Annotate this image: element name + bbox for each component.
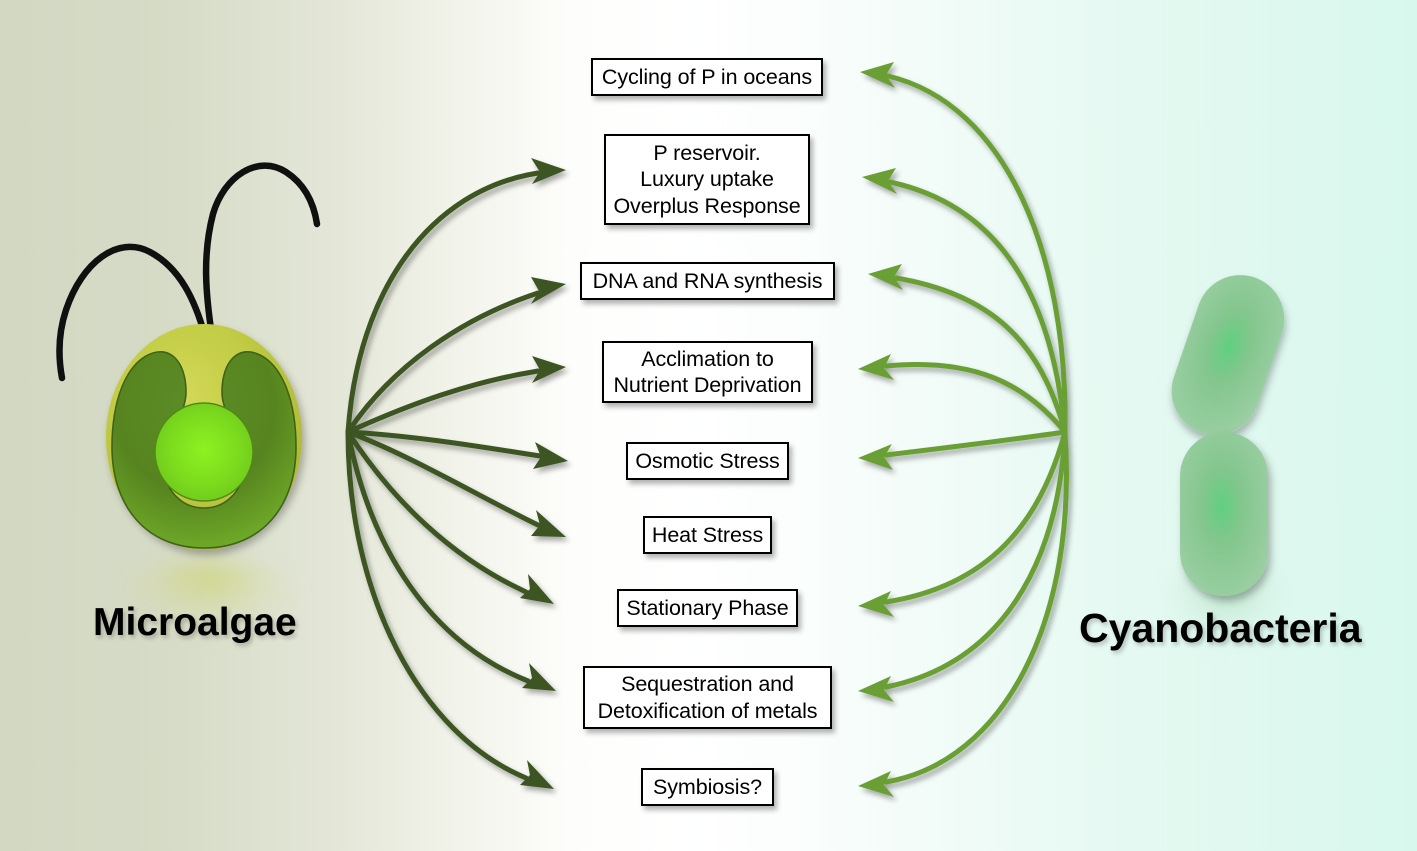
arrow-microalgae-to-heat-stress [348,432,566,537]
cyanobacteria-label: Cyanobacteria [1079,605,1362,652]
microalgae-arrow-group [348,158,568,789]
arrow-cyanobacteria-to-dna-rna [868,264,1065,432]
box-osmotic-stress[interactable]: Osmotic Stress [626,442,789,480]
cyanobacteria-arrow-group [858,62,1066,797]
arrow-microalgae-to-symbiosis [348,432,554,789]
box-acclimation-to-nutrient-deprivation[interactable]: Acclimation to Nutrient Deprivation [602,341,813,403]
box-stationary-phase[interactable]: Stationary Phase [617,589,798,627]
arrow-microalgae-to-sequestration [348,432,556,691]
arrow-cyanobacteria-to-osmotic-stress [858,432,1065,470]
arrow-microalgae-to-osmotic-stress [348,432,568,469]
figure-canvas: Cycling of P in oceans P reservoir. Luxu… [0,0,1417,851]
arrow-cyanobacteria-to-acclimation [858,354,1065,432]
arrow-cyanobacteria-to-stationary-phase [858,432,1065,617]
box-cycling-of-p-in-oceans[interactable]: Cycling of P in oceans [591,58,823,96]
arrow-cyanobacteria-to-sequestration [858,432,1065,702]
box-heat-stress[interactable]: Heat Stress [643,516,772,554]
box-symbiosis[interactable]: Symbiosis? [641,768,774,806]
microalgae-label: Microalgae [93,601,297,645]
box-sequestration-and-detoxification-of-metals[interactable]: Sequestration and Detoxification of meta… [583,666,832,729]
box-dna-and-rna-synthesis[interactable]: DNA and RNA synthesis [580,262,835,300]
box-p-reservoir[interactable]: P reservoir. Luxury uptake Overplus Resp… [604,134,810,225]
